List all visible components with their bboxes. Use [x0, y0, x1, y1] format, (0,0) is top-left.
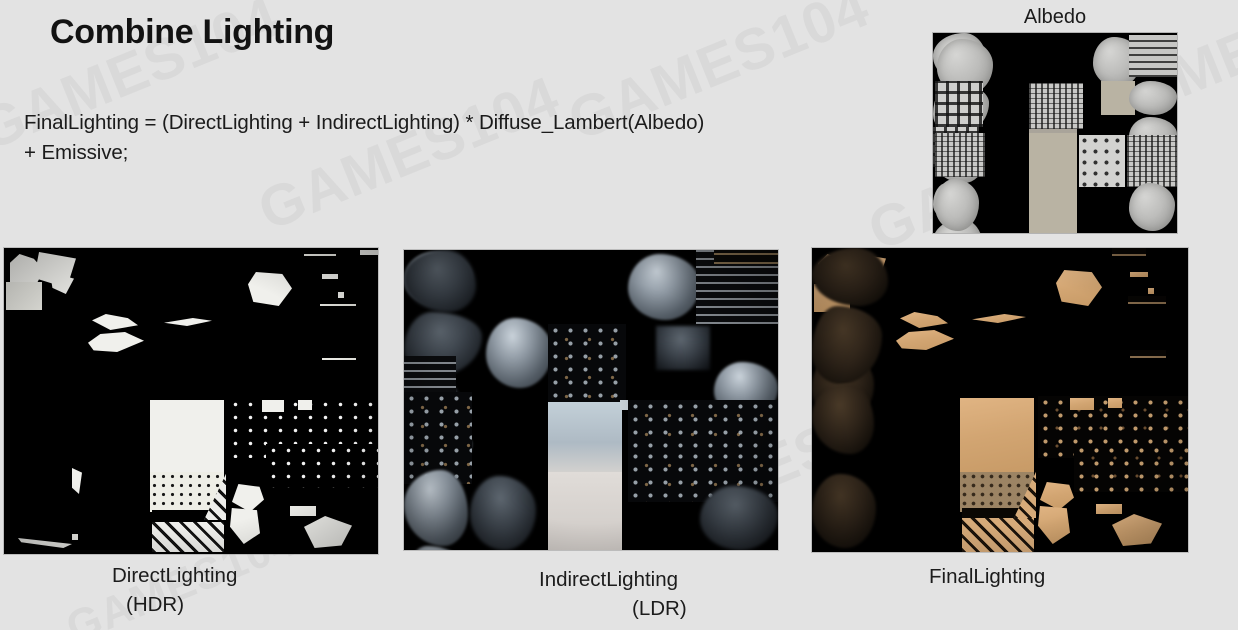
page-title: Combine Lighting: [50, 13, 334, 52]
final-lighting-image: [812, 248, 1188, 552]
lighting-formula: FinalLighting = (DirectLighting + Indire…: [24, 108, 704, 168]
albedo-atlas-image: [933, 33, 1177, 233]
direct-lighting-caption-sub: (HDR): [126, 593, 184, 617]
indirect-lighting-caption-sub: (LDR): [632, 597, 687, 621]
final-lighting-caption: FinalLighting: [929, 565, 1045, 589]
formula-line-2: + Emissive;: [24, 138, 704, 168]
indirect-lighting-caption: IndirectLighting: [539, 568, 678, 592]
direct-lighting-image: [4, 248, 378, 554]
albedo-label: Albedo: [933, 6, 1177, 29]
formula-line-1: FinalLighting = (DirectLighting + Indire…: [24, 108, 704, 138]
direct-lighting-caption: DirectLighting: [112, 564, 237, 588]
indirect-lighting-image: [404, 250, 778, 550]
